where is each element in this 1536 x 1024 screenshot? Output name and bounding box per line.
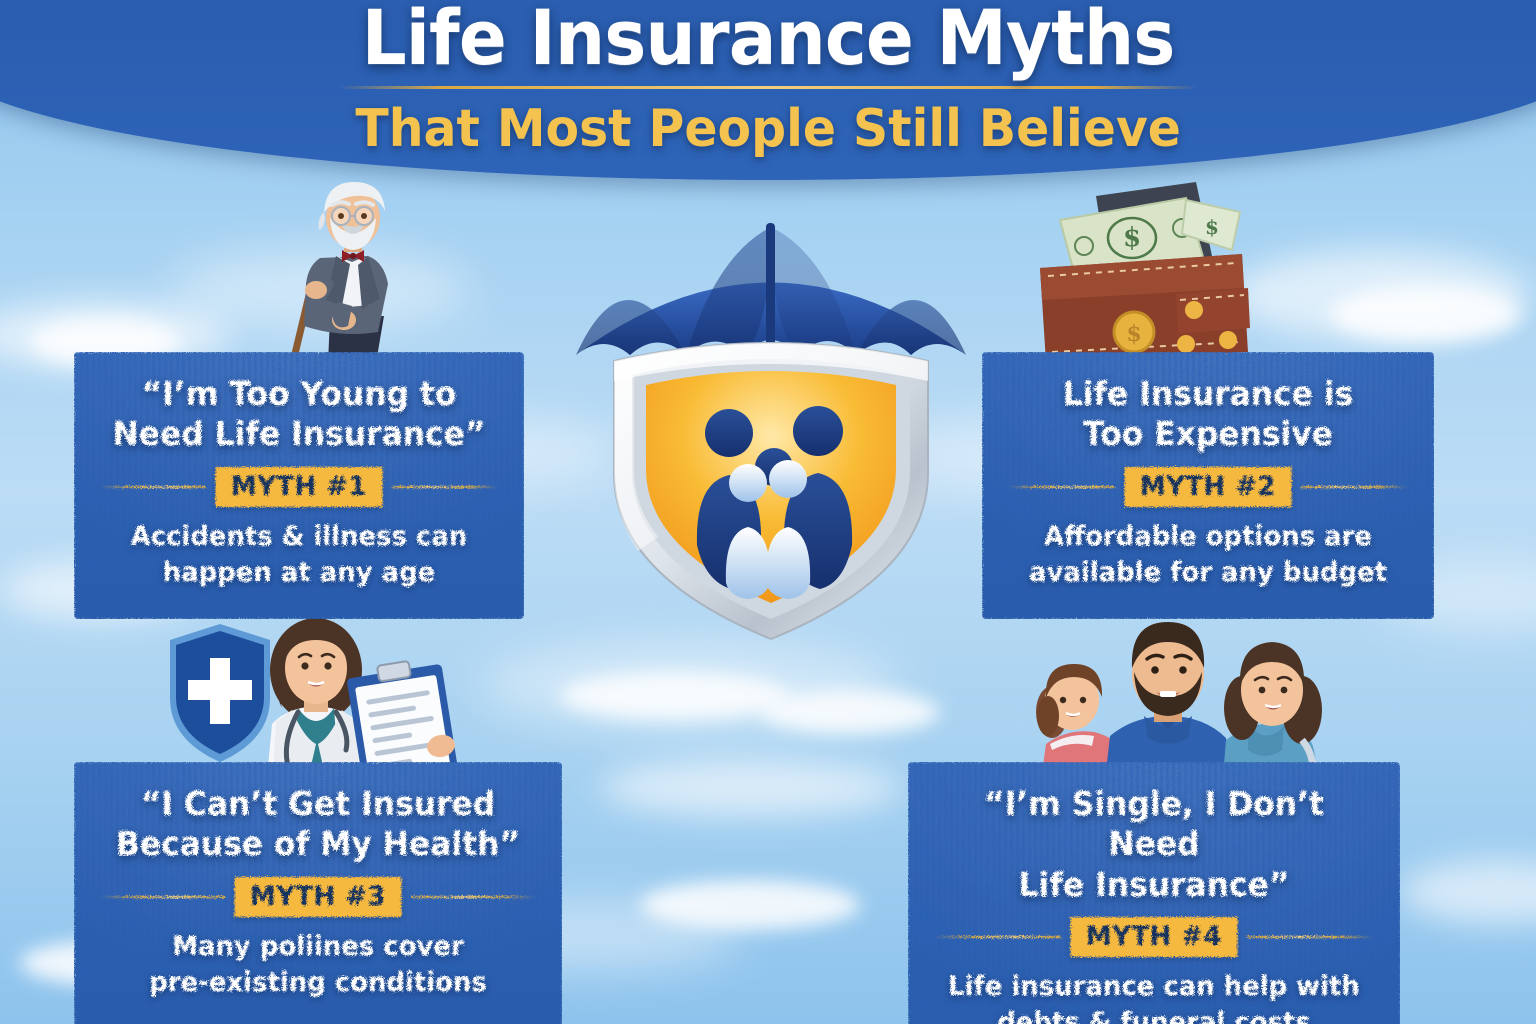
infographic-poster: Life Insurance Myths That Most People St… (0, 0, 1536, 1024)
myth-4-badge: MYTH #4 (1071, 917, 1238, 957)
myth-4-badge-row: MYTH #4 (934, 917, 1374, 957)
shield-icon (614, 343, 928, 639)
umbrella-icon (576, 223, 966, 355)
myth-card-2[interactable]: Life Insurance is Too Expensive MYTH #2 … (982, 352, 1434, 619)
page-title: Life Insurance Myths (362, 0, 1175, 76)
badge-rule-left (100, 486, 206, 488)
svg-text:$: $ (1126, 321, 1141, 347)
myth-4-fact: Life insurance can help with debts & fun… (943, 969, 1365, 1024)
umbrella-shield-emblem (566, 215, 976, 645)
medical-shield-icon (170, 624, 270, 762)
myth-2-headline: Life Insurance is Too Expensive (1018, 374, 1398, 455)
myth-3-badge: MYTH #3 (235, 877, 402, 917)
title-divider (338, 86, 1198, 89)
header-band: Life Insurance Myths That Most People St… (0, 0, 1536, 180)
myth-card-4[interactable]: “I’m Single, I Don’t Need Life Insurance… (908, 762, 1400, 1024)
myth-3-fact: Many poliines cover pre-existing conditi… (109, 929, 528, 1001)
wallet-with-cash-illustration: $ $ $ (1036, 176, 1256, 362)
myth-4-headline: “I’m Single, I Don’t Need Life Insurance… (945, 784, 1363, 905)
badge-rule-left (100, 896, 225, 898)
badge-rule-left (934, 936, 1061, 938)
badge-rule-right (1247, 936, 1374, 938)
myth-1-fact: Accidents & illness can happen at any ag… (108, 519, 490, 591)
myth-card-3[interactable]: “I Can’t Get Insured Because of My Healt… (74, 762, 562, 1024)
myth-1-headline: “I’m Too Young to Need Life Insurance” (110, 374, 488, 455)
badge-rule-right (411, 896, 536, 898)
myth-2-badge: MYTH #2 (1125, 467, 1292, 507)
myth-1-badge-row: MYTH #1 (100, 467, 498, 507)
myth-3-headline: “I Can’t Get Insured Because of My Healt… (111, 784, 525, 865)
myth-2-fact: Affordable options are available for any… (1016, 519, 1400, 591)
badge-rule-right (392, 486, 498, 488)
myth-3-badge-row: MYTH #3 (100, 877, 536, 917)
myth-1-badge: MYTH #1 (216, 467, 383, 507)
svg-text:$: $ (1123, 223, 1141, 253)
badge-rule-left (1008, 486, 1115, 488)
myth-card-1[interactable]: “I’m Too Young to Need Life Insurance” M… (74, 352, 524, 619)
badge-rule-right (1301, 486, 1408, 488)
svg-text:$: $ (1205, 215, 1219, 239)
elderly-man-illustration (258, 178, 433, 363)
myth-2-badge-row: MYTH #2 (1008, 467, 1408, 507)
page-subtitle: That Most People Still Believe (355, 99, 1181, 159)
